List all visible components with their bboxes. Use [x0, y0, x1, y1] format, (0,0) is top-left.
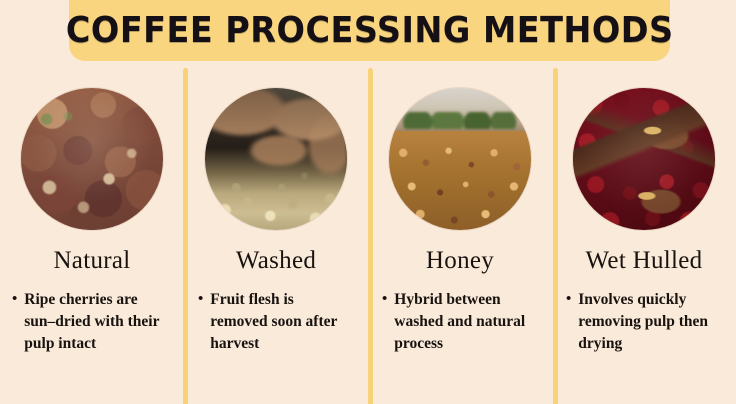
column-heading-honey: Honey	[368, 247, 552, 275]
bullet-list-natural: • Ripe cherries are sun–dried with their…	[0, 289, 184, 355]
bullet-list-wet-hulled: • Involves quickly removing pulp then dr…	[552, 289, 736, 355]
bullet-text: Involves quickly removing pulp then dryi…	[578, 289, 728, 355]
column-natural: Natural • Ripe cherries are sun–dried wi…	[0, 61, 184, 404]
honey-process-drying-bed-photo	[389, 88, 531, 230]
bullet-icon: •	[198, 289, 203, 355]
bullet-icon: •	[382, 289, 387, 355]
dried-coffee-cherries-photo	[21, 88, 163, 230]
hands-over-washed-beans-photo	[205, 88, 347, 230]
column-honey: Honey • Hybrid between washed and natura…	[368, 61, 552, 404]
bullet-list-washed: • Fruit flesh is removed soon after harv…	[184, 289, 368, 355]
column-washed: Washed • Fruit flesh is removed soon aft…	[184, 61, 368, 404]
page-title: COFFEE PROCESSING METHODS	[66, 10, 674, 51]
list-item: • Hybrid between washed and natural proc…	[382, 289, 544, 355]
infographic-canvas: COFFEE PROCESSING METHODS Natural • Ripe…	[0, 0, 736, 404]
bullet-icon: •	[566, 289, 571, 355]
column-heading-washed: Washed	[184, 247, 368, 275]
column-wet-hulled: Wet Hulled • Involves quickly removing p…	[552, 61, 736, 404]
columns-container: Natural • Ripe cherries are sun–dried wi…	[0, 61, 736, 404]
list-item: • Involves quickly removing pulp then dr…	[566, 289, 728, 355]
bullet-icon: •	[12, 289, 17, 355]
hands-sorting-red-cherries-photo	[573, 88, 715, 230]
column-heading-wet-hulled: Wet Hulled	[552, 247, 736, 275]
title-banner: COFFEE PROCESSING METHODS	[69, 0, 670, 61]
list-item: • Fruit flesh is removed soon after harv…	[198, 289, 354, 355]
column-heading-natural: Natural	[0, 247, 184, 275]
bullet-text: Hybrid between washed and natural proces…	[394, 289, 544, 355]
list-item: • Ripe cherries are sun–dried with their…	[12, 289, 168, 355]
bullet-list-honey: • Hybrid between washed and natural proc…	[368, 289, 552, 355]
bullet-text: Fruit flesh is removed soon after harves…	[210, 289, 354, 355]
bullet-text: Ripe cherries are sun–dried with their p…	[24, 289, 168, 355]
